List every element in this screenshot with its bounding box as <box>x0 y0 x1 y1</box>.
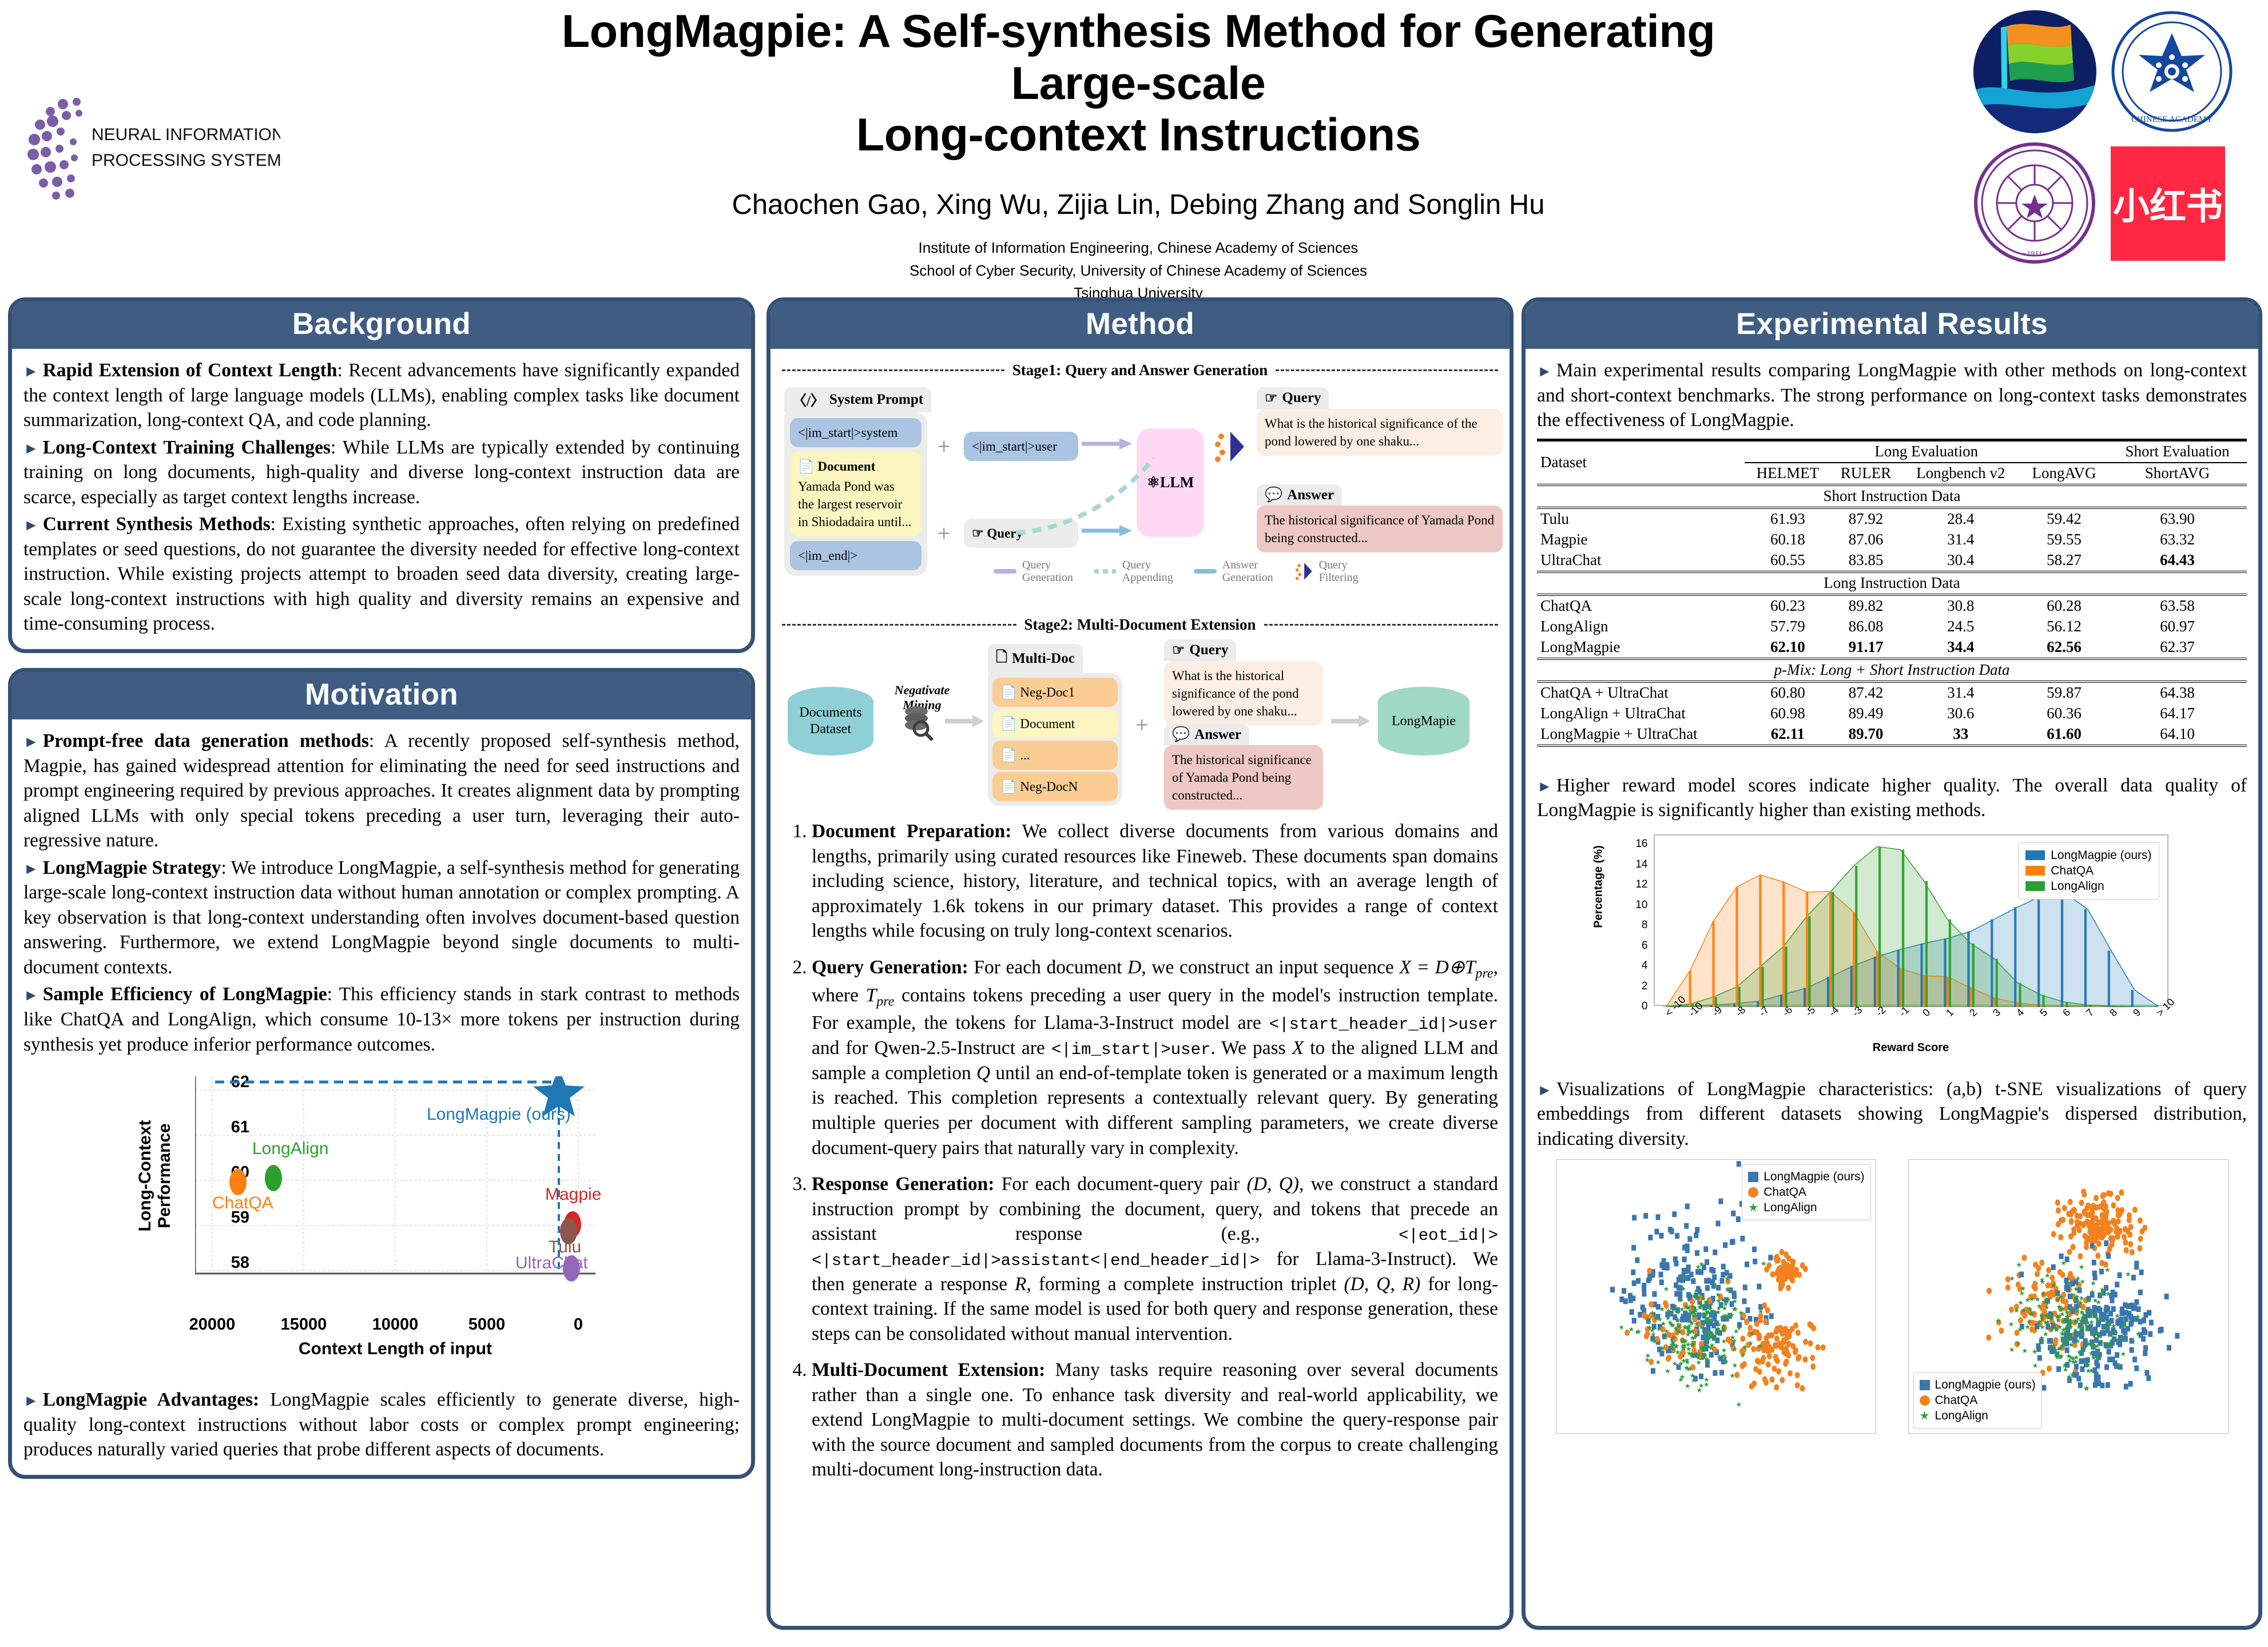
pmix-label: p-Mix: Long + Short Instruction Data <box>1774 661 2010 678</box>
step-title: Multi-Document Extension: <box>812 1359 1045 1381</box>
svg-text:★: ★ <box>1708 1344 1714 1352</box>
cell-shortavg: 63.58 <box>2108 595 2247 616</box>
col-longbench: Longbench v2 <box>1901 463 2020 485</box>
filter-icon <box>1294 562 1313 581</box>
histogram-legend: LongMagpie (ours) ChatQA LongAlign <box>2018 842 2159 900</box>
svg-text:★: ★ <box>1663 1285 1669 1293</box>
cell-shortavg: 64.43 <box>2108 550 2247 572</box>
mining-icon <box>899 702 939 745</box>
cell-helmet: 60.23 <box>1745 595 1830 616</box>
table-row: LongMagpie + UltraChat 62.11 89.70 33 61… <box>1537 724 2247 746</box>
answer-output-text: The historical significance of Yamada Po… <box>1257 506 1503 552</box>
cell-ruler: 87.42 <box>1830 682 1901 703</box>
table-row: LongMagpie 62.10 91.17 34.4 62.56 62.37 <box>1537 637 2247 659</box>
output-arrow <box>1331 714 1371 729</box>
middle-column: Method Stage1: Query and Answer Generati… <box>766 297 1514 1645</box>
cell-longavg: 56.12 <box>2020 616 2108 637</box>
cell-longavg: 59.42 <box>2020 508 2108 530</box>
documents-dataset-cylinder: Documents Dataset <box>788 687 873 755</box>
step-body: . We pass <box>1210 1037 1292 1059</box>
cell-helmet: 60.80 <box>1745 682 1830 703</box>
svg-text:★: ★ <box>2103 1324 2109 1332</box>
scatter-label-chatqa: ChatQA <box>212 1194 273 1213</box>
svg-text:★: ★ <box>2072 1318 2079 1326</box>
svg-text:★: ★ <box>2013 1307 2019 1315</box>
step-body: , we construct an input sequence <box>1141 957 1399 978</box>
table-section-header: Long Instruction Data <box>1537 572 2247 595</box>
document-tag-text: Document <box>817 459 875 474</box>
histogram-y-tick: 8 <box>1625 919 1648 932</box>
legend-text: Query Generation <box>1022 559 1073 584</box>
stage2-answer-label: Answer <box>1194 727 1241 743</box>
answer-output-group: 💬 Answer The historical significance of … <box>1257 484 1503 552</box>
svg-text:★: ★ <box>2009 1275 2015 1283</box>
affiliation-item: School of Cyber Security, University of … <box>515 260 1762 283</box>
row-name: LongAlign <box>1537 616 1745 637</box>
dash-divider <box>1276 369 1498 371</box>
im-end-token: <|im_end|> <box>790 541 922 570</box>
document-card: 📄 Document Yamada Pond was the largest r… <box>790 452 922 536</box>
svg-text:★: ★ <box>2134 1313 2140 1321</box>
dash-divider <box>1264 624 1499 626</box>
svg-text:★: ★ <box>2135 1330 2141 1338</box>
scatter-point-chatqa <box>229 1169 247 1195</box>
legend-label: LongMagpie (ours) <box>1763 1170 1864 1184</box>
triangle-bullet-icon: ► <box>23 733 39 750</box>
svg-text:★: ★ <box>2026 1306 2032 1314</box>
cell-helmet: 57.79 <box>1745 616 1830 637</box>
svg-text:★: ★ <box>2099 1290 2105 1298</box>
section-short-instruction-data: Short Instruction Data <box>1537 485 2247 508</box>
histogram-x-tick: 8 <box>2107 1006 2120 1019</box>
system-prompt-container: <|im_start|>system 📄 Document Yamada Pon… <box>784 412 927 576</box>
cell-longbench: 30.4 <box>1901 550 2020 572</box>
svg-text:★: ★ <box>1715 1320 1722 1328</box>
svg-text:★: ★ <box>1679 1274 1686 1282</box>
histogram-y-tick: 14 <box>1625 858 1648 871</box>
earth-flag-logo <box>1973 10 2096 133</box>
method-heading: Method <box>770 301 1510 349</box>
svg-text:★: ★ <box>1725 1286 1731 1294</box>
legend-circle-marker <box>1748 1187 1758 1198</box>
method-step-4: Multi-Document Extension: Many tasks req… <box>812 1358 1498 1482</box>
group-short-evaluation: Short Evaluation <box>2108 440 2247 463</box>
legend-star-marker: ★ <box>1920 1410 1930 1422</box>
legend-swatch <box>2025 866 2045 876</box>
legend-swatch <box>1194 569 1217 574</box>
svg-text:★: ★ <box>1722 1358 1729 1366</box>
svg-text:★: ★ <box>1721 1338 1727 1346</box>
tsne-plot-b: ★★★★★★★★★★★★★★★★★★★★★★★★★★★★★★★★★★★★★★★★… <box>1908 1159 2229 1434</box>
query-output-chip: ☞ Query <box>1257 387 1329 409</box>
scatter-x-tick: 20000 <box>166 1315 258 1334</box>
motivation-bullet: ►LongMagpie Strategy: We introduce LongM… <box>23 856 740 980</box>
svg-text:★: ★ <box>1724 1275 1730 1283</box>
cell-shortavg: 64.10 <box>2108 724 2247 746</box>
cell-shortavg: 62.37 <box>2108 637 2247 659</box>
svg-text:★: ★ <box>1757 1342 1763 1350</box>
cell-shortavg: 64.38 <box>2108 682 2247 703</box>
question-icon: ☞ <box>1265 389 1277 407</box>
multidoc-group: 🗋 Multi-Doc 📄 Neg-Doc1 📄 Document 📄 ... … <box>988 644 1122 806</box>
background-bullet: ►Long-Context Training Challenges: While… <box>23 435 740 510</box>
svg-text:★: ★ <box>1700 1346 1706 1354</box>
cell-helmet: 62.11 <box>1745 724 1830 746</box>
table-row: LongAlign + UltraChat 60.98 89.49 30.6 6… <box>1537 703 2247 724</box>
scatter-inner: Long-Context Performance Context Length … <box>138 1071 653 1362</box>
method-step-2: Query Generation: For each document D, w… <box>812 955 1498 1160</box>
math-subscript: pre <box>876 994 894 1009</box>
svg-text:★: ★ <box>1685 1365 1691 1373</box>
step-body: and for Qwen-2.5-Instruct are <box>812 1037 1051 1059</box>
triangle-bullet-icon: ► <box>23 363 39 380</box>
cell-longavg: 60.28 <box>2020 595 2108 616</box>
legend-text: Answer Generation <box>1222 559 1273 584</box>
poster-title: LongMagpie: A Self-synthesis Method for … <box>515 6 1762 161</box>
system-prompt-label: System Prompt <box>829 392 923 408</box>
svg-text:★: ★ <box>2085 1367 2091 1375</box>
svg-text:★: ★ <box>2017 1326 2023 1334</box>
svg-text:★: ★ <box>1675 1308 1681 1316</box>
svg-text:★: ★ <box>2079 1331 2085 1339</box>
histogram-y-tick: 6 <box>1625 940 1648 952</box>
col-dataset: Dataset <box>1537 440 1745 485</box>
svg-text:★: ★ <box>1757 1307 1763 1315</box>
table-row: ChatQA 60.23 89.82 30.8 60.28 63.58 <box>1537 595 2247 616</box>
table-row: ChatQA + UltraChat 60.80 87.42 31.4 59.8… <box>1537 682 2247 703</box>
histogram-x-axis-label: Reward Score <box>1654 1041 2168 1055</box>
scatter-label-magpie: Magpie <box>545 1185 601 1204</box>
svg-text:★: ★ <box>1729 1334 1735 1342</box>
svg-text:★: ★ <box>1659 1344 1665 1352</box>
cell-longbench: 34.4 <box>1901 637 2020 659</box>
cell-ruler: 89.70 <box>1830 724 1901 746</box>
histogram-y-tick: 4 <box>1625 960 1648 972</box>
svg-text:★: ★ <box>1675 1327 1681 1335</box>
scatter-label-longalign: LongAlign <box>252 1139 328 1159</box>
doc-icon: 📄 <box>1000 748 1017 762</box>
svg-text:★: ★ <box>1739 1351 1746 1359</box>
bullet-title: Prompt-free data generation methods <box>43 730 369 751</box>
math-symbol: (D, Q) <box>1247 1173 1299 1195</box>
svg-text:★: ★ <box>2021 1347 2028 1355</box>
legend-answer-generation: Answer Generation <box>1194 559 1273 584</box>
triangle-bullet-icon: ► <box>1537 1081 1552 1099</box>
scatter-label-longmagpie: LongMagpie (ours) <box>427 1105 571 1124</box>
chinese-academy-of-sciences-logo: CHINESE ACADEMY <box>2111 10 2234 133</box>
svg-text:★: ★ <box>1657 1315 1663 1323</box>
svg-text:★: ★ <box>2008 1346 2015 1354</box>
legend-label: LongMagpie (ours) <box>2051 849 2151 862</box>
svg-text:★: ★ <box>2112 1329 2119 1337</box>
legend-longalign: ★LongAlign <box>1748 1201 1864 1215</box>
cell-shortavg: 64.17 <box>2108 703 2247 724</box>
svg-text:★: ★ <box>2008 1320 2014 1328</box>
svg-text:★: ★ <box>2060 1318 2067 1326</box>
svg-text:★: ★ <box>2053 1326 2060 1334</box>
code-token: <|im_start|>user <box>1051 1040 1210 1059</box>
svg-text:★: ★ <box>2125 1271 2131 1279</box>
svg-text:★: ★ <box>2050 1342 2056 1350</box>
cell-longbench: 33 <box>1901 724 2020 746</box>
svg-text:★: ★ <box>2020 1307 2027 1315</box>
scatter-x-tick: 15000 <box>258 1315 349 1334</box>
svg-text:★: ★ <box>2107 1331 2113 1339</box>
im-start-system-token: <|im_start|>system <box>790 418 922 447</box>
llm-label: LLM <box>1160 474 1194 491</box>
svg-text:★: ★ <box>2042 1330 2048 1338</box>
bullet-title: Sample Efficiency of LongMagpie <box>43 984 327 1005</box>
svg-text:★: ★ <box>2095 1298 2102 1306</box>
svg-text:★: ★ <box>2074 1293 2080 1301</box>
svg-text:★: ★ <box>2015 1339 2021 1347</box>
legend-query-generation: Query Generation <box>994 559 1073 584</box>
math-symbol: R <box>1015 1274 1026 1295</box>
cell-helmet: 60.18 <box>1745 530 1830 550</box>
svg-text:★: ★ <box>2067 1304 2074 1312</box>
table-row: Tulu 61.93 87.92 28.4 59.42 63.90 <box>1537 508 2247 530</box>
svg-text:★: ★ <box>1680 1344 1686 1352</box>
svg-text:★: ★ <box>2058 1293 2064 1301</box>
svg-text:★: ★ <box>2016 1261 2022 1269</box>
row-name: LongMagpie <box>1537 637 1745 659</box>
xiaohongshu-logo-text: 小红书 <box>2113 177 2223 230</box>
col-ruler: RULER <box>1830 463 1901 485</box>
svg-text:★: ★ <box>2070 1358 2076 1366</box>
title-block: LongMagpie: A Self-synthesis Method for … <box>515 6 1762 327</box>
legend-text: Query Appending <box>1122 559 1173 584</box>
table-row: Magpie 60.18 87.06 31.4 59.55 63.32 <box>1537 530 2247 550</box>
tsne-a-legend: LongMagpie (ours) ChatQA ★LongAlign <box>1742 1164 1870 1220</box>
results-body: ►Main experimental results comparing Lon… <box>1526 349 2258 1444</box>
math-subscript: pre <box>1476 966 1494 981</box>
step-title: Query Generation: <box>812 957 968 978</box>
svg-text:★: ★ <box>1703 1376 1710 1384</box>
row-name: ChatQA <box>1537 595 1745 616</box>
cell-longbench: 30.6 <box>1901 703 2020 724</box>
svg-text:★: ★ <box>2064 1279 2071 1287</box>
stage2-title: Stage2: Multi-Document Extension <box>1024 616 1256 634</box>
histogram-y-tick: 10 <box>1625 899 1648 912</box>
svg-text:★: ★ <box>1995 1317 2001 1325</box>
table-section-header: p-Mix: Long + Short Instruction Data <box>1537 659 2247 682</box>
results-note-tsne: ►Visualizations of LongMagpie characteri… <box>1537 1077 2247 1152</box>
svg-text:★: ★ <box>1695 1263 1701 1271</box>
cell-longbench: 28.4 <box>1901 508 2020 530</box>
svg-text:★: ★ <box>1656 1325 1662 1333</box>
question-icon: ☞ <box>972 526 984 540</box>
histogram-y-tick: 12 <box>1625 878 1648 891</box>
results-note-reward: ►Higher reward model scores indicate hig… <box>1537 773 2247 823</box>
stage2-answer-chip: 💬 Answer <box>1164 724 1249 745</box>
cell-longbench: 31.4 <box>1901 530 2020 550</box>
row-name: Tulu <box>1537 508 1745 530</box>
col-shortavg: ShortAVG <box>2108 463 2247 485</box>
bullet-title: Rapid Extension of Context Length <box>43 360 337 381</box>
svg-text:★: ★ <box>2090 1279 2096 1287</box>
svg-text:★: ★ <box>2032 1362 2038 1370</box>
multidoc-label: Multi-Doc <box>1012 651 1075 667</box>
cell-ruler: 87.06 <box>1830 530 1901 550</box>
step-title: Document Preparation: <box>812 821 1011 842</box>
table-section-header: Short Instruction Data <box>1537 485 2247 508</box>
triangle-bullet-icon: ► <box>23 1392 39 1409</box>
math-symbol: X <box>1292 1037 1304 1059</box>
svg-text:★: ★ <box>1736 1324 1742 1332</box>
triangle-bullet-icon: ► <box>23 860 39 877</box>
legend-label: ChatQA <box>2051 864 2094 878</box>
svg-text:★: ★ <box>1689 1352 1695 1360</box>
doc-icon: 📄 <box>1000 779 1017 794</box>
results-panel: Experimental Results ►Main experimental … <box>1522 297 2262 1630</box>
cell-longavg: 58.27 <box>2020 550 2108 572</box>
histogram-plot-area: LongMagpie (ours) ChatQA LongAlign <box>1654 834 2168 1006</box>
svg-text:★: ★ <box>2105 1290 2111 1298</box>
legend-label: LongAlign <box>1935 1409 1988 1423</box>
row-name: LongAlign + UltraChat <box>1537 703 1745 724</box>
legend-label: ChatQA <box>1763 1185 1806 1199</box>
svg-text:★: ★ <box>1662 1334 1668 1342</box>
step-title: Response Generation: <box>812 1173 994 1195</box>
svg-text:★: ★ <box>1628 1326 1634 1334</box>
row-name: UltraChat <box>1537 550 1745 572</box>
svg-text:★: ★ <box>2106 1340 2112 1348</box>
legend-longmagpie: LongMagpie (ours) <box>1920 1378 2036 1392</box>
stage1-legend: Query Generation Query Appending <box>925 559 1359 584</box>
histogram-x-tick: 2 <box>1967 1006 1980 1019</box>
svg-text:★: ★ <box>1719 1296 1726 1304</box>
histogram-y-tick: 16 <box>1625 838 1648 850</box>
legend-circle-marker <box>1920 1395 1930 1406</box>
svg-text:★: ★ <box>1650 1331 1656 1339</box>
code-token: <|start_header_id|>user <box>1269 1015 1498 1034</box>
svg-text:★: ★ <box>1668 1310 1674 1318</box>
cell-helmet: 61.93 <box>1745 508 1830 530</box>
legend-longmagpie: LongMagpie (ours) <box>1748 1170 1864 1184</box>
stage2-query-text: What is the historical significance of t… <box>1164 661 1323 726</box>
stage1-diagram: 〈/〉 System Prompt <|im_start|>system 📄 D… <box>782 384 1498 612</box>
bullet-title: Long-Context Training Challenges <box>43 437 331 458</box>
stage2-query-group: ☞ Query What is the historical significa… <box>1164 639 1323 726</box>
svg-text:★: ★ <box>2064 1329 2070 1337</box>
svg-text:★: ★ <box>2079 1348 2085 1356</box>
dash-divider <box>782 369 1004 371</box>
cell-shortavg: 63.90 <box>2108 508 2247 530</box>
step-body: For each document-query pair <box>994 1173 1246 1195</box>
svg-text:★: ★ <box>1729 1372 1735 1380</box>
histogram-x-tick: 1 <box>1944 1006 1956 1019</box>
reward-score-histogram: Percentage (%) Reward Score 0 2 4 6 8 10… <box>1580 829 2204 1057</box>
query-output-group: ☞ Query What is the historical significa… <box>1257 387 1503 456</box>
cell-longbench: 24.5 <box>1901 616 2020 637</box>
document-text: Yamada Pond was the largest reservoir in… <box>798 478 913 531</box>
svg-text:★: ★ <box>1618 1323 1624 1331</box>
svg-text:CHINESE ACADEMY: CHINESE ACADEMY <box>2131 115 2213 124</box>
svg-text:★: ★ <box>1738 1309 1744 1317</box>
svg-text:★: ★ <box>1644 1356 1650 1364</box>
svg-text:★: ★ <box>2130 1338 2136 1346</box>
cell-ruler: 83.85 <box>1830 550 1901 572</box>
svg-text:★: ★ <box>2066 1373 2072 1381</box>
svg-text:★: ★ <box>1634 1328 1640 1336</box>
svg-text:★: ★ <box>2091 1329 2098 1337</box>
svg-text:★: ★ <box>2028 1295 2035 1303</box>
legend-swatch <box>2025 850 2045 860</box>
svg-text:★: ★ <box>1677 1376 1683 1384</box>
stage2-header: Stage2: Multi-Document Extension <box>782 616 1498 634</box>
neurips-logo-line2: PROCESSING SYSTEMS <box>92 151 280 170</box>
legend-chatqa: ChatQA <box>1920 1394 2036 1407</box>
system-prompt-group: 〈/〉 System Prompt <|im_start|>system 📄 D… <box>784 387 931 576</box>
question-icon: ☞ <box>1172 642 1185 659</box>
stage2-answer-group: 💬 Answer The historical significance of … <box>1164 724 1323 810</box>
background-heading: Background <box>12 301 751 349</box>
legend-longalign: LongAlign <box>2025 880 2151 893</box>
histogram-x-tick: 0 <box>1920 1006 1933 1019</box>
documents-icon: 🗋 <box>996 646 1007 671</box>
legend-chatqa: ChatQA <box>2025 864 2151 878</box>
row-name: Magpie <box>1537 530 1745 550</box>
svg-text:★: ★ <box>1674 1317 1681 1325</box>
author-list: Chaochen Gao, Xing Wu, Zijia Lin, Debing… <box>515 189 1762 221</box>
histogram-x-tick: 4 <box>2014 1006 2027 1019</box>
query-filtering-icon <box>1212 429 1246 467</box>
svg-text:★: ★ <box>1711 1280 1718 1288</box>
stage2-query-chip: ☞ Query <box>1164 639 1236 661</box>
source-document: 📄 Document <box>992 709 1118 738</box>
svg-text:★: ★ <box>1731 1362 1738 1370</box>
svg-text:★: ★ <box>2122 1318 2128 1326</box>
query-appending-arrow <box>1011 447 1159 538</box>
svg-text:★: ★ <box>2025 1318 2032 1326</box>
svg-text:★: ★ <box>1731 1346 1738 1354</box>
math-symbol: T <box>866 985 877 1006</box>
method-step-1: Document Preparation: We collect diverse… <box>812 819 1498 944</box>
svg-text:★: ★ <box>1704 1318 1710 1326</box>
svg-text:★: ★ <box>2074 1307 2080 1315</box>
svg-text:★: ★ <box>1747 1340 1754 1348</box>
svg-text:★: ★ <box>2089 1288 2095 1296</box>
triangle-bullet-icon: ► <box>23 440 39 457</box>
svg-text:~1911~: ~1911~ <box>2023 250 2047 258</box>
triangle-bullet-icon: ► <box>23 516 39 534</box>
legend-label: LongAlign <box>1763 1201 1817 1215</box>
doc-icon: 📄 <box>1000 717 1017 731</box>
svg-text:★: ★ <box>1680 1285 1686 1293</box>
math-symbol: (D, Q, R) <box>1344 1274 1420 1295</box>
math-symbol: X = D⊕T <box>1399 957 1475 978</box>
svg-text:★: ★ <box>1690 1377 1697 1385</box>
method-steps-list: Document Preparation: We collect diverse… <box>782 819 1498 1482</box>
poster-title-line-1: LongMagpie: A Self-synthesis Method for … <box>515 6 1762 109</box>
method-body: Stage1: Query and Answer Generation 〈/〉 … <box>770 349 1510 1504</box>
answer-output-chip: 💬 Answer <box>1257 484 1342 506</box>
svg-text:★: ★ <box>2062 1366 2068 1374</box>
stage1-title: Stage1: Query and Answer Generation <box>1012 361 1268 379</box>
table-header-row: Dataset Long Evaluation Short Evaluation <box>1537 440 2247 463</box>
tsne-plot-a: ★★★★★★★★★★★★★★★★★★★★★★★★★★★★★★★★★★★★★★★★… <box>1556 1159 1876 1434</box>
cell-ruler: 87.92 <box>1830 508 1901 530</box>
section-pmix: p-Mix: Long + Short Instruction Data <box>1537 659 2247 682</box>
svg-text:★: ★ <box>1649 1310 1655 1318</box>
svg-text:★: ★ <box>2031 1348 2037 1356</box>
method-step-3: Response Generation: For each document-q… <box>812 1172 1498 1346</box>
cell-ruler: 89.82 <box>1830 595 1901 616</box>
svg-text:★: ★ <box>2056 1344 2062 1352</box>
stage2-query-label: Query <box>1189 642 1228 658</box>
row-name: ChatQA + UltraChat <box>1537 682 1745 703</box>
neurips-logo: NEURAL INFORMATION PROCESSING SYSTEMS <box>17 80 280 212</box>
